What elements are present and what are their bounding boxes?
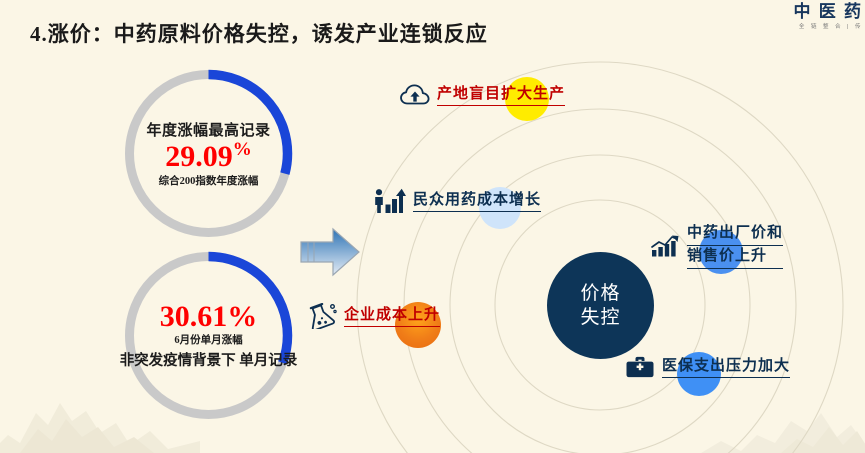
gauge-annual-increase: 年度涨幅最高记录 29.09% 综合200指数年度涨幅 [121,66,296,241]
node-insurance-label: 医保支出压力加大 [662,356,790,379]
node-insurance-line-1: 医保支出压力加大 [662,356,790,379]
bar-chart-growth-icon [650,234,680,258]
node-factory-price-label: 中药出厂价和 销售价上升 [687,223,783,269]
node-insurance[interactable]: 医保支出压力加大 [625,355,790,379]
gauge-annual-percent-symbol: % [233,139,252,160]
gauge-monthly-value: 30.61% [160,301,258,333]
brand-logo-sub: 全 链 整 合 | 传 [771,22,863,32]
brand-logo: 中 医 药 全 链 整 合 | 传 [771,2,863,40]
node-public-cost-line-1: 民众用药成本增长 [413,190,541,213]
slide-canvas: 4.涨价：中药原料价格失控，诱发产业连锁反应 中 医 药 全 链 整 合 | 传… [0,0,865,453]
node-public-cost-label: 民众用药成本增长 [413,190,541,213]
gauge-annual-caption: 年度涨幅最高记录 [146,119,270,140]
gauge-annual-subtitle: 综合200指数年度涨幅 [159,173,259,188]
node-production[interactable]: 产地盲目扩大生产 [400,83,565,107]
gauge-monthly-increase: 30.61% 6月份单月涨幅 非突发疫情背景下 单月记录 [121,248,296,423]
orbit-diagram: 产地盲目扩大生产 民众用药成本增长 [355,60,865,453]
node-enterprise-cost-line-1: 企业成本上升 [344,305,440,328]
node-factory-price-line-2: 销售价上升 [687,246,783,269]
cloud-upload-icon [400,83,430,107]
flask-icon [305,303,337,329]
gauge-annual-value: 29.09% [165,140,252,173]
node-production-line-1: 产地盲目扩大生产 [437,84,565,107]
gauge-annual-content: 年度涨幅最高记录 29.09% 综合200指数年度涨幅 [121,66,296,241]
node-factory-price-line-1: 中药出厂价和 [687,223,783,246]
flow-arrow-right-icon [297,222,363,282]
gauge-annual-number: 29.09 [165,140,233,173]
brand-logo-main: 中 医 药 [771,2,863,22]
node-production-label: 产地盲目扩大生产 [437,84,565,107]
gauge-monthly-caption: 非突发疫情背景下 单月记录 [120,352,298,370]
node-enterprise-cost[interactable]: 企业成本上升 [305,303,440,329]
hub-price-out-of-control[interactable]: 价格 失控 [547,252,654,359]
population-growth-icon [373,188,406,214]
node-enterprise-cost-label: 企业成本上升 [344,305,440,328]
gauge-monthly-content: 30.61% 6月份单月涨幅 非突发疫情背景下 单月记录 [121,248,296,423]
page-title: 4.涨价：中药原料价格失控，诱发产业连锁反应 [30,18,488,48]
medical-briefcase-icon [625,355,655,379]
hub-label: 价格 失控 [580,282,620,330]
node-public-cost[interactable]: 民众用药成本增长 [373,188,541,214]
node-factory-price[interactable]: 中药出厂价和 销售价上升 [650,223,783,269]
gauge-monthly-subtitle: 6月份单月涨幅 [174,332,242,347]
